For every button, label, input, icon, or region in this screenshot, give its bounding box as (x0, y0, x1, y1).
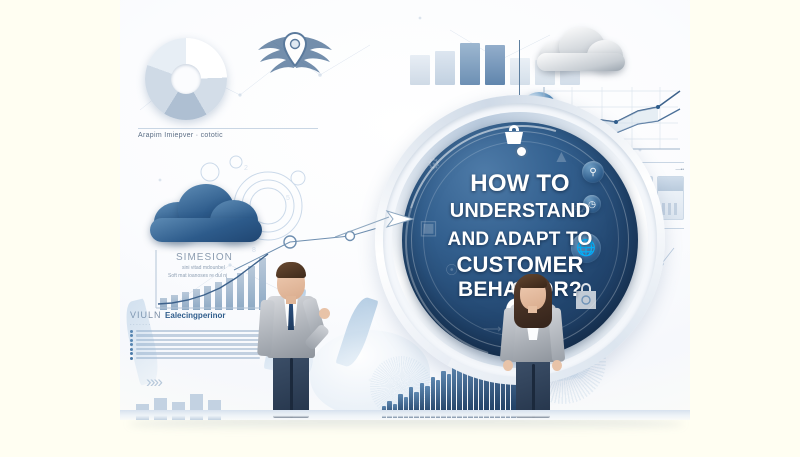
winged-location-pin-icon (240, 28, 350, 90)
list-heading-row: VIULN Ealecingperinor (130, 310, 260, 320)
woman-hand-right (552, 360, 562, 371)
man-hair (276, 262, 306, 278)
woman-hair-front (519, 274, 547, 288)
ghost-chart-icon: ▲ (553, 147, 570, 167)
businessman-figure (245, 258, 345, 418)
woman-hand-left (503, 360, 513, 371)
donut-chart (145, 38, 227, 120)
headline-line-1: HOW TO (413, 171, 627, 198)
strip-bar (485, 45, 505, 85)
man-hand (319, 308, 330, 319)
donut-caption: Arapim Imiepver · cototic (138, 132, 318, 139)
woman-leg-split (532, 364, 535, 418)
bullet-text-bar (136, 339, 260, 342)
infographic-panel: Arapim Imiepver · cototic c25 8o (120, 0, 690, 420)
businesswoman-figure (490, 268, 582, 418)
shopping-cart-icon (501, 123, 527, 147)
strip-bar (435, 51, 455, 85)
headline-line-3: AND ADAPT TO (413, 229, 627, 250)
strip-bar (410, 55, 430, 85)
list-heading-accent: Ealecingperinor (165, 311, 225, 320)
headline-line-2: UNDERSTAND (413, 200, 627, 222)
donut-caption-block: Arapim Imiepver · cototic (138, 128, 318, 139)
strip-bar (510, 58, 530, 85)
illustration-canvas: Arapim Imiepver · cototic c25 8o (0, 0, 800, 457)
strip-bar (460, 43, 480, 85)
bottom-left-bar-chart (130, 392, 240, 420)
woman-neck (528, 306, 537, 313)
man-leg-split (290, 358, 293, 418)
svg-text:2: 2 (244, 165, 248, 172)
legend-dash-icon: —•• (675, 167, 684, 173)
man-neck (286, 296, 296, 304)
bullet-text-bar (136, 334, 260, 337)
caption-rule (138, 128, 318, 129)
cloud-icon-secondary (535, 25, 627, 73)
svg-text:5: 5 (286, 195, 290, 202)
bullet-text-bar (136, 330, 260, 333)
